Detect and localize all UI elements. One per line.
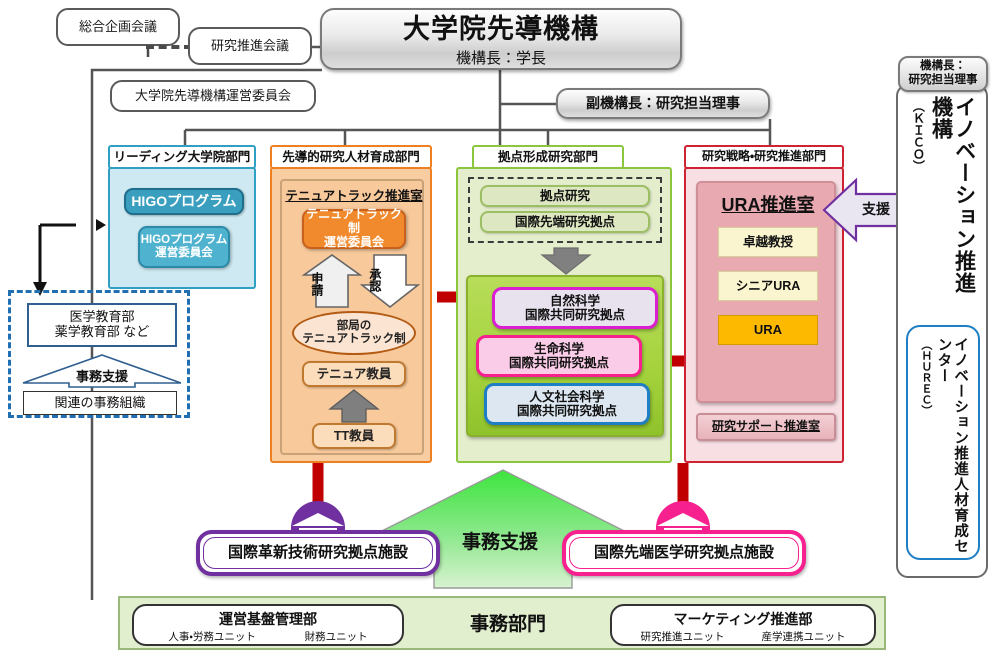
dept-tab-hr[interactable]: 先導的研究人材育成部門 xyxy=(270,145,432,169)
ura-item-senior-ura[interactable]: シニアURA xyxy=(718,271,818,301)
vice-director-box: 副機構長：研究担当理事 xyxy=(556,88,770,119)
higo-program-label: HIGOプログラム xyxy=(131,193,236,209)
related-admin-org-label: 関連の事務組織 xyxy=(54,396,145,411)
higo-committee-label: HIGOプログラム 運営委員会 xyxy=(141,234,228,260)
research-council-box[interactable]: 研究推進会議 xyxy=(188,27,312,65)
admin-right-unit-0: 研究推進ユニット xyxy=(641,629,725,644)
facility-left-capsule[interactable]: 国際革新技術研究拠点施設 xyxy=(196,530,440,576)
hurec-box[interactable]: イノベーション推進人材育成センター （ＨＵＲＥＣ） xyxy=(906,325,980,560)
intl-advanced-hub-label: 国際先端研究拠点 xyxy=(515,215,615,229)
dept-tab-hr-label: 先導的研究人材育成部門 xyxy=(282,150,420,164)
dept-body-strategy: URA推進室 卓越教授 シニアURA URA 研究サポート推進室 xyxy=(684,167,844,463)
admin-division-band: 運営基盤管理部 人事・労務ユニット 財務ユニット 事務部門 マーケティング推進部… xyxy=(118,596,886,650)
admin-support-arrow-label: 事務支援 xyxy=(420,528,580,558)
tenure-track-room-panel: テニュアトラック推進室 テニュアトラック制 運営委員会 申請 承認 部局の テニ… xyxy=(280,179,424,455)
hub-life-science-box[interactable]: 生命科学 国際共同研究拠点 xyxy=(476,335,642,377)
hub-life-science-label: 生命科学 国際共同研究拠点 xyxy=(509,342,609,371)
facility-left-label: 国際革新技術研究拠点施設 xyxy=(228,544,408,561)
vice-director-label: 副機構長：研究担当理事 xyxy=(586,95,740,111)
ura-item-distinguished-professor[interactable]: 卓越教授 xyxy=(718,227,818,257)
admin-right-title: マーケティング推進部 xyxy=(612,609,874,629)
hub-research-label: 拠点研究 xyxy=(540,189,590,203)
dept-body-hr: テニュアトラック推進室 テニュアトラック制 運営委員会 申請 承認 部局の テニ… xyxy=(270,167,432,463)
admin-left-unit-0: 人事・労務ユニット xyxy=(168,629,256,644)
hub-natural-science-box[interactable]: 自然科学 国際共同研究拠点 xyxy=(492,287,658,329)
admin-left-title: 運営基盤管理部 xyxy=(134,609,402,629)
hurec-name-label: イノベーション推進人材育成センター xyxy=(935,337,968,558)
education-support-block: 医学教育部 薬学教育部 など 事務支援 関連の事務組織 xyxy=(8,290,190,418)
research-council-label: 研究推進会議 xyxy=(211,39,289,54)
planning-council-label: 総合企画会議 xyxy=(79,20,157,35)
higo-program-box[interactable]: HIGOプログラム xyxy=(124,188,244,215)
kico-header-label: 機構長： 研究担当理事 xyxy=(909,60,978,88)
facility-right-label: 国際先端医学研究拠点施設 xyxy=(594,544,774,561)
dept-tab-hub-label: 拠点形成研究部門 xyxy=(498,150,598,164)
tenure-faculty-box[interactable]: テニュア教員 xyxy=(302,361,406,387)
hub-humanities-box[interactable]: 人文社会科学 国際共同研究拠点 xyxy=(484,383,650,425)
higo-committee-box[interactable]: HIGOプログラム 運営委員会 xyxy=(138,226,230,268)
admin-right-unit-1: 産学連携ユニット xyxy=(762,629,846,644)
ura-room-label: URA推進室 xyxy=(698,191,838,219)
kico-name-label: イノベーション推進機構 xyxy=(929,96,975,308)
hub-down-arrow xyxy=(538,247,594,275)
kico-abbr-label: （ＫＩＣＯ） xyxy=(910,100,927,172)
dept-tab-leading[interactable]: リーディング大学院部門 xyxy=(108,145,256,169)
hurec-abbr-label: （ＨＵＲＥＣ） xyxy=(918,339,934,416)
organization-title-box: 大学院先導機構 機構長：学長 xyxy=(320,8,682,70)
hub-research-box[interactable]: 拠点研究 xyxy=(480,185,650,207)
education-dept-label: 医学教育部 薬学教育部 など xyxy=(55,310,150,340)
intl-joint-hubs-panel: 自然科学 国際共同研究拠点 生命科学 国際共同研究拠点 人文社会科学 国際共同研… xyxy=(466,275,664,437)
ura-item-2-label: URA xyxy=(754,323,782,338)
hub-research-dashed-group: 拠点研究 国際先端研究拠点 xyxy=(468,177,662,243)
dept-tab-leading-label: リーディング大学院部門 xyxy=(114,150,251,164)
bukyoku-tenure-track-label: 部局の テニュアトラック制 xyxy=(302,320,405,346)
hub-natural-science-label: 自然科学 国際共同研究拠点 xyxy=(525,294,625,323)
tt-faculty-box[interactable]: TT教員 xyxy=(312,423,396,449)
organization-title: 大学院先導機構 xyxy=(322,10,680,50)
planning-council-box[interactable]: 総合企画会議 xyxy=(56,8,180,46)
dept-body-leading: HIGOプログラム HIGOプログラム 運営委員会 xyxy=(108,167,256,289)
dept-tab-strategy[interactable]: 研究戦略・研究推進部門 xyxy=(684,145,844,169)
apply-arrow-label: 申請 xyxy=(304,261,328,307)
organization-subtitle: 機構長：学長 xyxy=(322,50,680,68)
tenure-track-room-label: テニュアトラック推進室 xyxy=(282,186,426,206)
dept-body-hub: 拠点研究 国際先端研究拠点 自然科学 国際共同研究拠点 生命科学 国際共同研究拠… xyxy=(456,167,672,463)
education-dept-box[interactable]: 医学教育部 薬学教育部 など xyxy=(27,303,177,347)
dashed-connector xyxy=(146,45,192,49)
ura-room-panel: URA推進室 卓越教授 シニアURA URA xyxy=(696,181,836,403)
research-support-room-box[interactable]: 研究サポート推進室 xyxy=(696,413,836,441)
ura-item-0-label: 卓越教授 xyxy=(743,235,793,249)
admin-right-box[interactable]: マーケティング推進部 研究推進ユニット 産学連携ユニット xyxy=(610,604,876,646)
support-arrow-label: 事務支援 xyxy=(21,367,183,387)
bukyoku-tenure-track-ellipse[interactable]: 部局の テニュアトラック制 xyxy=(292,311,416,355)
hub-humanities-label: 人文社会科学 国際共同研究拠点 xyxy=(517,390,617,419)
ura-item-ura[interactable]: URA xyxy=(718,315,818,345)
organization-chart: 総合企画会議 研究推進会議 大学院先導機構 機構長：学長 大学院先導機構運営委員… xyxy=(0,0,1000,654)
ura-item-1-label: シニアURA xyxy=(736,279,801,293)
admin-left-box[interactable]: 運営基盤管理部 人事・労務ユニット 財務ユニット xyxy=(132,604,404,646)
dept-tab-strategy-label: 研究戦略・研究推進部門 xyxy=(702,150,826,164)
approve-arrow-label: 承認 xyxy=(362,257,386,303)
tenure-track-committee-box[interactable]: テニュアトラック制 運営委員会 xyxy=(302,209,406,249)
related-admin-org-box[interactable]: 関連の事務組織 xyxy=(23,391,177,415)
kico-title-group: イノベーション推進機構 （ＫＩＣＯ） xyxy=(902,96,984,308)
intl-advanced-hub-box[interactable]: 国際先端研究拠点 xyxy=(480,211,650,233)
kico-header-box: 機構長： 研究担当理事 xyxy=(898,56,988,92)
admin-band-title: 事務部門 xyxy=(416,604,600,646)
tenure-track-committee-label: テニュアトラック制 運営委員会 xyxy=(304,208,404,249)
dept-tab-hub[interactable]: 拠点形成研究部門 xyxy=(472,145,624,169)
facility-right-capsule[interactable]: 国際先端医学研究拠点施設 xyxy=(562,530,806,576)
research-support-room-label: 研究サポート推進室 xyxy=(712,420,820,434)
admin-left-unit-1: 財務ユニット xyxy=(305,629,368,644)
steering-committee-label: 大学院先導機構運営委員会 xyxy=(135,89,291,104)
tenure-faculty-label: テニュア教員 xyxy=(317,367,392,381)
tt-faculty-label: TT教員 xyxy=(334,429,374,443)
promote-arrow-up xyxy=(328,389,380,423)
steering-committee-box[interactable]: 大学院先導機構運営委員会 xyxy=(110,80,316,112)
